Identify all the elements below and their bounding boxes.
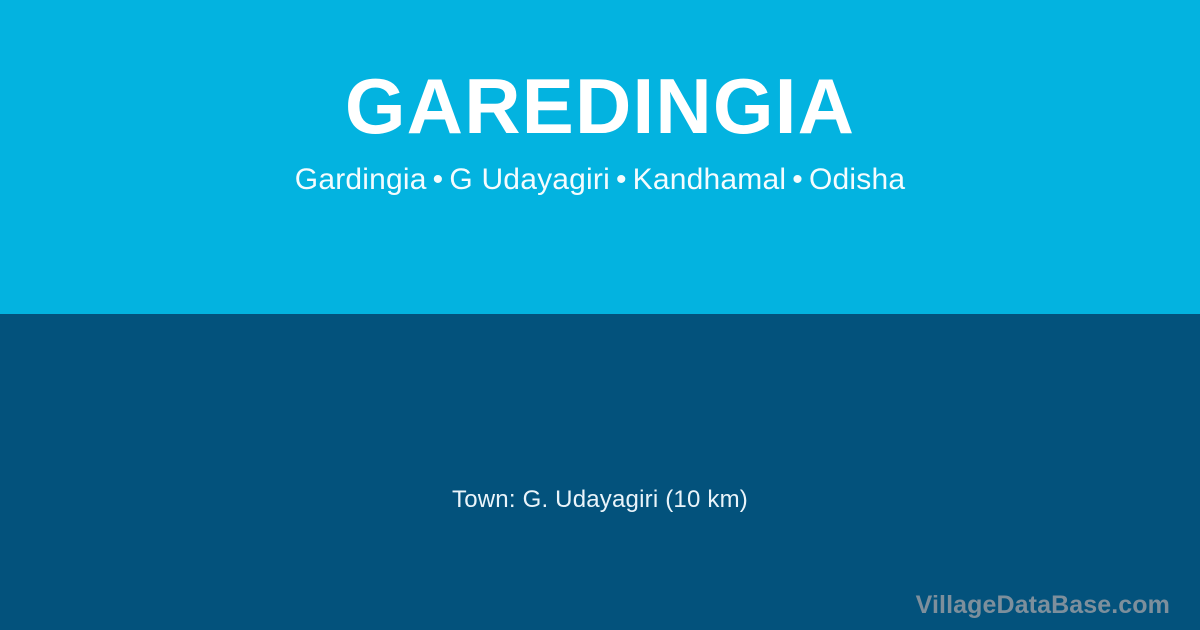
site-watermark: VillageDataBase.com [916,590,1170,620]
breadcrumb-separator-icon: • [427,163,450,196]
nearest-town-detail: Town: G. Udayagiri (10 km) [0,485,1200,515]
breadcrumb-alt-name: Gardingia [295,163,427,196]
page-title: GAREDINGIA [345,67,855,145]
breadcrumb-state: Odisha [809,163,905,196]
breadcrumb-separator-icon: • [610,163,633,196]
breadcrumb-block: G Udayagiri [449,163,610,196]
breadcrumb-district: Kandhamal [633,163,787,196]
village-info-card: GAREDINGIA Gardingia•G Udayagiri•Kandham… [0,0,1200,630]
breadcrumb-separator-icon: • [786,163,809,196]
main-content: Town: G. Udayagiri (10 km) [0,314,1200,630]
header: GAREDINGIA Gardingia•G Udayagiri•Kandham… [0,0,1200,314]
breadcrumb: Gardingia•G Udayagiri•Kandhamal•Odisha [295,163,905,196]
